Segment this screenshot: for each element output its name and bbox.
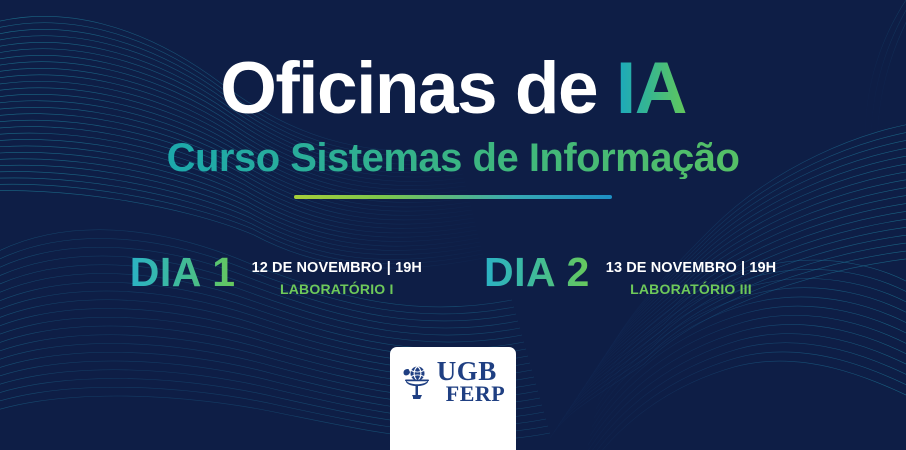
title-accent-text: IA (616, 48, 686, 129)
day-2-details: 13 DE NOVEMBRO | 19H LABORATÓRIO III (606, 252, 776, 299)
day-1-date: 12 DE NOVEMBRO | 19H (252, 259, 422, 277)
days-row: DIA 1 12 DE NOVEMBRO | 19H LABORATÓRIO I… (0, 252, 906, 299)
title-lead-text: Oficinas de (220, 48, 616, 129)
logo-line-ferp: FERP (437, 384, 505, 404)
day-2-date: 13 DE NOVEMBRO | 19H (606, 259, 776, 277)
title-block: Oficinas de IA Curso Sistemas de Informa… (0, 52, 906, 199)
day-1-label: DIA 1 (130, 252, 236, 293)
divider (294, 195, 612, 199)
day-entry-2: DIA 2 13 DE NOVEMBRO | 19H LABORATÓRIO I… (484, 252, 776, 299)
day-2-room: LABORATÓRIO III (606, 281, 776, 299)
ugb-torch-globe-emblem-icon (401, 364, 432, 400)
day-entry-1: DIA 1 12 DE NOVEMBRO | 19H LABORATÓRIO I (130, 252, 422, 299)
logo-lockup: UGB FERP (401, 359, 505, 404)
page-title: Oficinas de IA (0, 52, 906, 125)
day-1-room: LABORATÓRIO I (252, 281, 422, 299)
logo-wordmark: UGB FERP (437, 359, 505, 404)
event-banner: Oficinas de IA Curso Sistemas de Informa… (0, 0, 906, 450)
subtitle: Curso Sistemas de Informação (0, 137, 906, 179)
institution-logo-card: UGB FERP (390, 347, 516, 450)
day-2-label: DIA 2 (484, 252, 590, 293)
day-1-details: 12 DE NOVEMBRO | 19H LABORATÓRIO I (252, 252, 422, 299)
